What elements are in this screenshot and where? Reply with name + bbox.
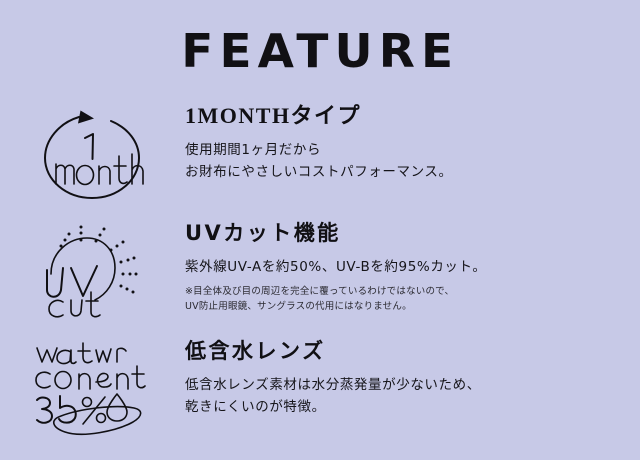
- feature-row-uv-cut: UVカット機能 紫外線UV-Aを約50%、UV-Bを約95%カット。 ※目全体及…: [0, 222, 640, 320]
- feature-icon-cell: [0, 340, 185, 434]
- feature-page: FEATURE: [0, 0, 640, 460]
- water-content-lens-icon: [31, 342, 155, 434]
- feature-row-one-month: 1MONTHタイプ 使用期間1ヶ月だから お財布にやさしいコストパフォーマンス。: [0, 104, 640, 204]
- feature-note-line: ※目全体及び目の周辺を完全に覆っているわけではないので、: [185, 285, 622, 299]
- feature-text-cell: UVカット機能 紫外線UV-Aを約50%、UV-Bを約95%カット。 ※目全体及…: [185, 222, 640, 314]
- feature-heading-uv-cut: UVカット機能: [185, 222, 622, 245]
- feature-body-line: お財布にやさしいコストパフォーマンス。: [185, 162, 622, 184]
- feature-body-line: 紫外線UV-Aを約50%、UV-Bを約95%カット。: [185, 257, 622, 279]
- feature-text-cell: 1MONTHタイプ 使用期間1ヶ月だから お財布にやさしいコストパフォーマンス。: [185, 104, 640, 184]
- feature-body-line: 乾きにくいのが特徴。: [185, 397, 622, 419]
- feature-note-line: UV防止用眼鏡、サングラスの代用にはなりません。: [185, 300, 622, 314]
- page-title-wrap: FEATURE: [0, 28, 640, 74]
- feature-heading-water-content: 低含水レンズ: [185, 340, 622, 363]
- feature-body-line: 使用期間1ヶ月だから: [185, 140, 622, 162]
- feature-icon-cell: [0, 104, 185, 204]
- page-title: FEATURE: [181, 28, 459, 74]
- feature-icon-cell: [0, 222, 185, 320]
- uv-cut-sun-icon: [37, 224, 149, 320]
- feature-heading-one-month: 1MONTHタイプ: [185, 104, 622, 128]
- one-month-circle-arrow-icon: [39, 106, 147, 204]
- feature-body-line: 低含水レンズ素材は水分蒸発量が少ないため、: [185, 375, 622, 397]
- feature-text-cell: 低含水レンズ 低含水レンズ素材は水分蒸発量が少ないため、 乾きにくいのが特徴。: [185, 340, 640, 419]
- feature-row-water-content: 低含水レンズ 低含水レンズ素材は水分蒸発量が少ないため、 乾きにくいのが特徴。: [0, 340, 640, 434]
